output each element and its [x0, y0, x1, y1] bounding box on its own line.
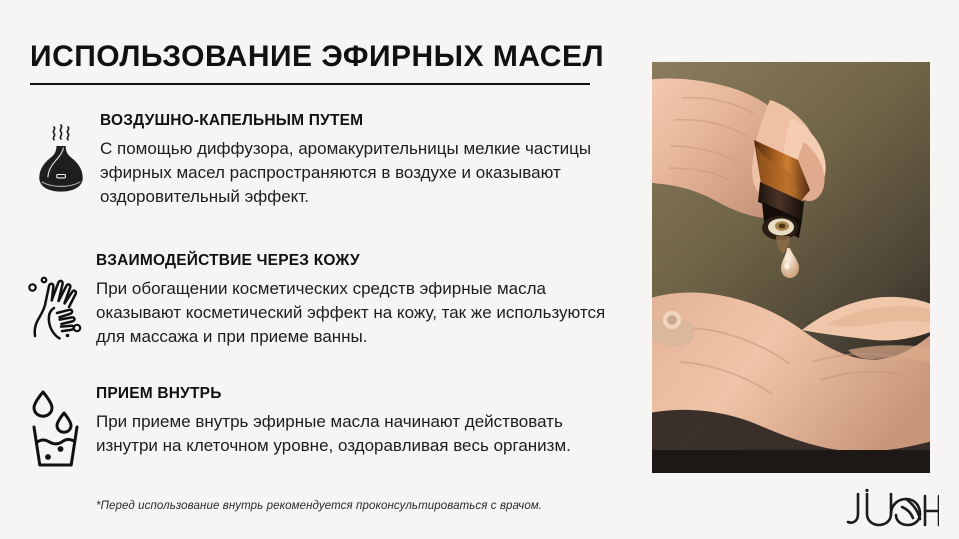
- section-heading: ПРИЕМ ВНУТРЬ: [96, 385, 618, 404]
- section-internal: ПРИЕМ ВНУТРЬ При приеме внутрь эфирные м…: [18, 385, 618, 471]
- slide-root: ИСПОЛЬЗОВАНИЕ ЭФИРНЫХ МАСЕЛ ВОЗДУШНО-КАП…: [0, 0, 959, 539]
- section-heading: ВОЗДУШНО-КАПЕЛЬНЫМ ПУТЕМ: [100, 112, 622, 131]
- photo-essential-oil: [652, 62, 930, 473]
- brand-logo: [843, 488, 939, 530]
- footnote: *Перед использование внутрь рекомендуетс…: [96, 500, 542, 512]
- title-divider: [30, 83, 590, 85]
- hands-icon: [18, 252, 96, 342]
- section-text: ПРИЕМ ВНУТРЬ При приеме внутрь эфирные м…: [96, 385, 618, 458]
- section-skin: ВЗАИМОДЕЙСТВИЕ ЧЕРЕЗ КОЖУ При обогащении…: [18, 252, 618, 349]
- section-text: ВЗАИМОДЕЙСТВИЕ ЧЕРЕЗ КОЖУ При обогащении…: [96, 252, 618, 349]
- section-airborne: ВОЗДУШНО-КАПЕЛЬНЫМ ПУТЕМ С помощью диффу…: [22, 112, 622, 209]
- glass-drop-icon: [18, 385, 96, 471]
- section-body: При обогащении косметических средств эфи…: [96, 277, 618, 349]
- title-block: ИСПОЛЬЗОВАНИЕ ЭФИРНЫХ МАСЕЛ: [30, 40, 590, 85]
- section-heading: ВЗАИМОДЕЙСТВИЕ ЧЕРЕЗ КОЖУ: [96, 252, 618, 271]
- page-title: ИСПОЛЬЗОВАНИЕ ЭФИРНЫХ МАСЕЛ: [30, 40, 590, 73]
- section-text: ВОЗДУШНО-КАПЕЛЬНЫМ ПУТЕМ С помощью диффу…: [100, 112, 622, 209]
- section-body: С помощью диффузора, аромакурительницы м…: [100, 137, 622, 209]
- section-body: При приеме внутрь эфирные масла начинают…: [96, 410, 618, 458]
- diffuser-icon: [22, 112, 100, 194]
